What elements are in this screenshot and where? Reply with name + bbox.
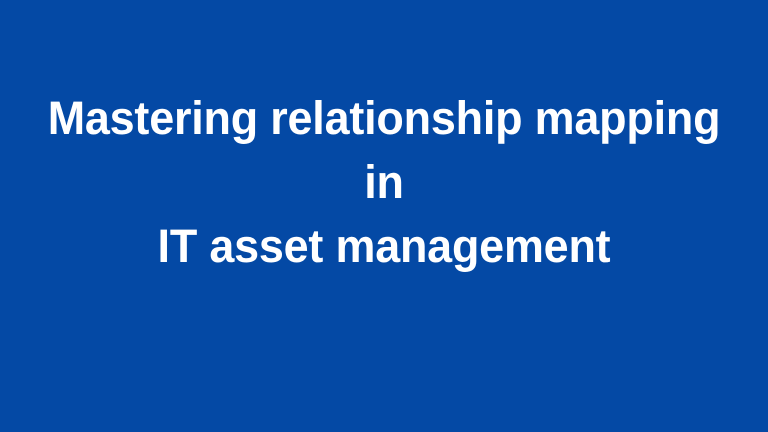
title-card: Mastering relationship mapping in IT ass… bbox=[0, 0, 768, 432]
page-title: Mastering relationship mapping in IT ass… bbox=[38, 86, 729, 278]
page-title-line-1: Mastering relationship mapping in bbox=[38, 86, 729, 214]
heading-block: Mastering relationship mapping in IT ass… bbox=[14, 86, 754, 278]
page-title-line-2: IT asset management bbox=[38, 214, 729, 278]
